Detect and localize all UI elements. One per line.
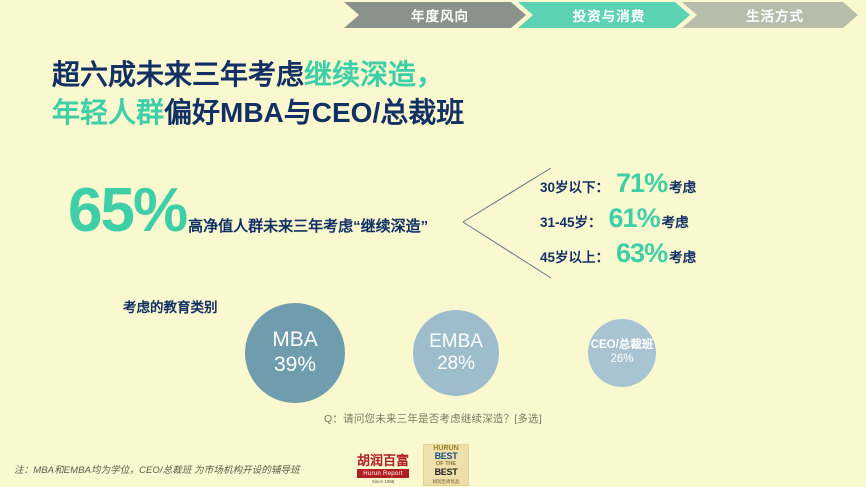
key-stat-value: 65% [68, 182, 186, 241]
title-segment-teal: 继续深造， [304, 59, 444, 90]
age-group-label: 30岁以下： [540, 176, 609, 196]
bubble-label: EMBA [429, 331, 483, 353]
page-title-line-1: 超六成未来三年考虑继续深造， [52, 56, 464, 94]
age-breakdown-row: 31-45岁： 61% 考虑 [540, 203, 770, 238]
nav-tab-investment-consumption[interactable]: 投资与消费 [518, 2, 690, 28]
age-breakdown-row: 45岁以上： 63% 考虑 [540, 238, 770, 273]
nav-tab-label: 投资与消费 [573, 5, 646, 25]
bubble-value: 39% [274, 353, 316, 378]
hurun-report-logo: 胡润百富 Hurun Report Since 1999 [353, 452, 413, 486]
age-group-suffix: 考虑 [669, 176, 696, 196]
age-breakdown-row: 30岁以下： 71% 考虑 [540, 168, 770, 203]
bubble-label: MBA [272, 328, 318, 353]
title-segment-teal: 年轻人群 [52, 97, 164, 128]
bubble-emba: EMBA 28% [413, 310, 499, 396]
logo-group: 胡润百富 Hurun Report Since 1999 HURUN BEST … [353, 442, 479, 486]
nav-tab-annual-trends[interactable]: 年度风向 [344, 2, 526, 28]
nav-tab-lifestyle[interactable]: 生活方式 [682, 2, 858, 28]
best-logo-cn-text: 胡润至尚优品 [433, 479, 460, 485]
age-group-suffix: 考虑 [669, 246, 696, 266]
key-stat-description: 高净值人群未来三年考虑“继续深造” [186, 215, 428, 241]
best-logo-line-1: BEST [435, 452, 458, 461]
age-group-value: 63% [616, 238, 667, 269]
nav-tab-label: 生活方式 [746, 5, 804, 25]
title-segment-navy: 偏好MBA与CEO/总裁班 [164, 97, 464, 128]
age-group-value: 61% [609, 203, 660, 234]
hurun-logo-en-text: Hurun Report [357, 469, 409, 478]
key-stat-block: 65% 高净值人群未来三年考虑“继续深造” [68, 182, 428, 241]
bubble-value: 26% [610, 353, 633, 367]
education-bubble-chart: MBA 39% EMBA 28% CEO/总裁班 26% [230, 300, 700, 405]
best-logo-line-3: BEST [435, 468, 458, 477]
best-of-the-best-logo: HURUN BEST OF THE BEST 胡润至尚优品 [423, 444, 469, 486]
age-group-suffix: 考虑 [662, 211, 689, 231]
bubble-label: CEO/总裁班 [591, 339, 654, 353]
age-group-label: 45岁以上： [540, 246, 609, 266]
age-group-value: 71% [616, 168, 667, 199]
hurun-logo-tagline: Since 1999 [372, 479, 395, 484]
survey-question: Q：请问您未来三年是否考虑继续深造？[多选] [0, 411, 866, 426]
title-segment-navy: 超六成未来三年考虑 [52, 59, 304, 90]
page-title-line-2: 年轻人群偏好MBA与CEO/总裁班 [52, 94, 464, 132]
age-group-label: 31-45岁： [540, 211, 602, 231]
bubble-mba: MBA 39% [245, 303, 345, 403]
section-nav-chevrons: 年度风向 投资与消费 生活方式 [344, 2, 866, 28]
nav-tab-label: 年度风向 [411, 5, 469, 25]
footnote-text: 注：MBA和EMBA均为学位，CEO/总裁班 为市场机构开设的辅导班 [14, 462, 300, 476]
education-category-label: 考虑的教育类别 [123, 296, 218, 316]
bubble-value: 28% [437, 353, 475, 375]
slide-canvas: 年度风向 投资与消费 生活方式 超六成未来三年考虑继续深造， 年轻人群偏好MBA… [0, 0, 866, 487]
age-breakdown-list: 30岁以下： 71% 考虑 31-45岁： 61% 考虑 45岁以上： 63% … [540, 168, 770, 273]
page-title: 超六成未来三年考虑继续深造， 年轻人群偏好MBA与CEO/总裁班 [52, 56, 464, 131]
hurun-logo-cn-text: 胡润百富 [357, 454, 409, 467]
bubble-ceo-president-class: CEO/总裁班 26% [588, 319, 656, 387]
